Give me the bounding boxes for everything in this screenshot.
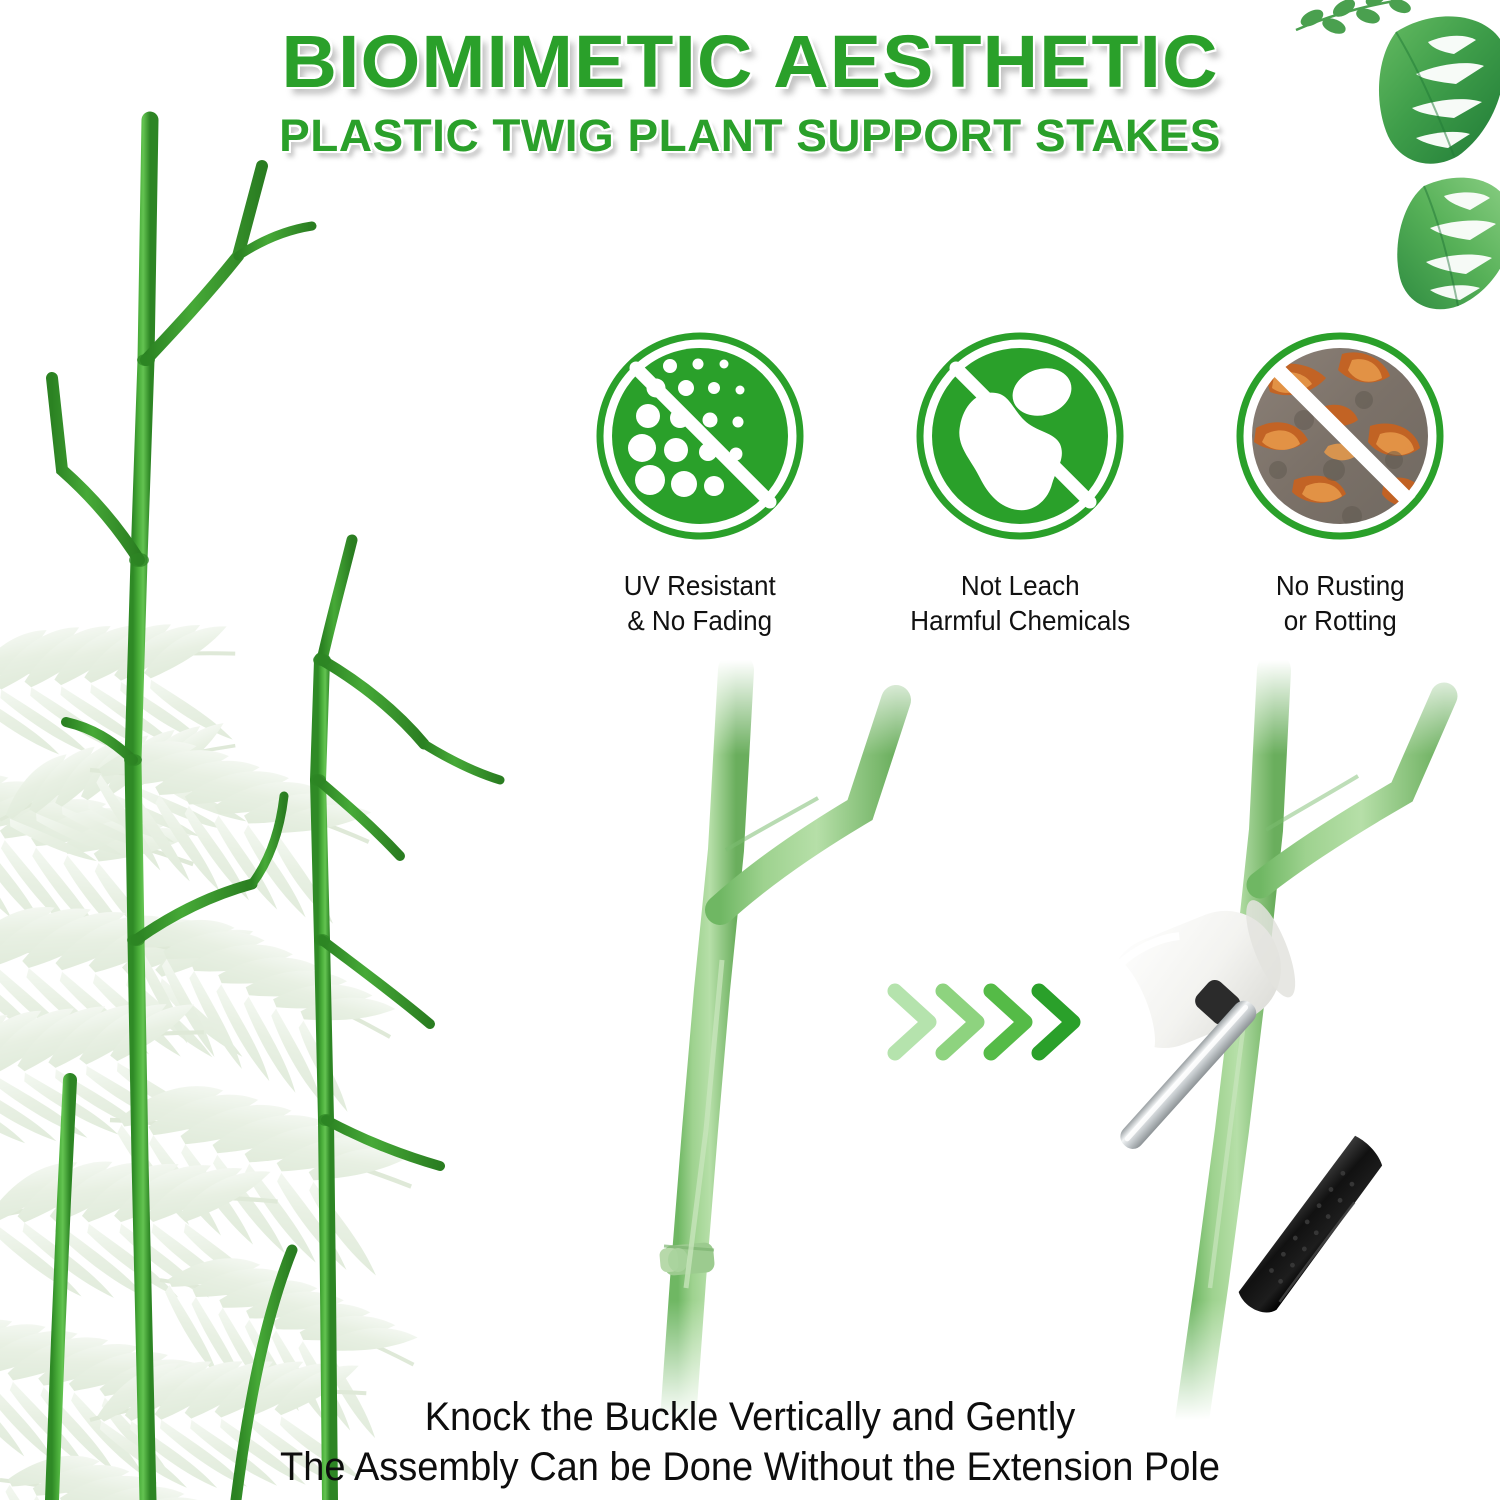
no-chemical-leach-icon <box>914 330 1126 542</box>
no-uv-fading-icon <box>594 330 806 542</box>
footer-line-2: The Assembly Can be Done Without the Ext… <box>38 1442 1463 1492</box>
page-subtitle: PLASTIC TWIG PLANT SUPPORT STAKES <box>0 108 1500 164</box>
branching-stake-being-knocked <box>1184 670 1444 1420</box>
feature-no-rusting-label: No Rusting or Rotting <box>1276 568 1405 638</box>
chevron-right-icon-4 <box>1039 991 1073 1053</box>
product-infographic: BIOMIMETIC AESTHETIC PLASTIC TWIG PLANT … <box>0 0 1500 1500</box>
page-title: BIOMIMETIC AESTHETIC <box>0 22 1500 102</box>
feature-no-chemical-leach: Not Leach Harmful Chemicals <box>885 330 1155 638</box>
chevron-right-icon-2 <box>943 991 977 1053</box>
feature-badge-row: UV Resistant & No Fading Not Leach Harmf… <box>565 330 1475 690</box>
mallet-ferrule <box>1191 976 1243 1028</box>
mallet-shaft <box>1116 996 1261 1153</box>
plastic-twig-support-stakes <box>0 60 560 1500</box>
feature-no-rusting: No Rusting or Rotting <box>1205 330 1475 638</box>
no-rust-rot-icon <box>1234 330 1446 542</box>
background-palm-foliage <box>0 520 560 1500</box>
footer-instructions: Knock the Buckle Vertically and Gently T… <box>0 1392 1500 1492</box>
mallet-head <box>1089 891 1306 1066</box>
feature-no-chemical-leach-label: Not Leach Harmful Chemicals <box>910 568 1130 638</box>
chevron-right-icon-3 <box>991 991 1025 1053</box>
branching-stake-with-buckle <box>659 670 896 1420</box>
chevron-right-icon-1 <box>895 991 929 1053</box>
stake-buckle-connector <box>659 1242 715 1276</box>
feature-uv-resistant-label: UV Resistant & No Fading <box>624 568 776 638</box>
right-stake-buckle <box>1184 993 1233 1027</box>
white-rubber-mallet <box>1085 885 1475 1355</box>
feature-uv-resistant: UV Resistant & No Fading <box>565 330 835 638</box>
headline-block: BIOMIMETIC AESTHETIC PLASTIC TWIG PLANT … <box>0 22 1500 164</box>
footer-line-1: Knock the Buckle Vertically and Gently <box>38 1392 1463 1442</box>
mallet-grip <box>1223 1134 1400 1321</box>
direction-chevrons <box>885 965 1100 1080</box>
